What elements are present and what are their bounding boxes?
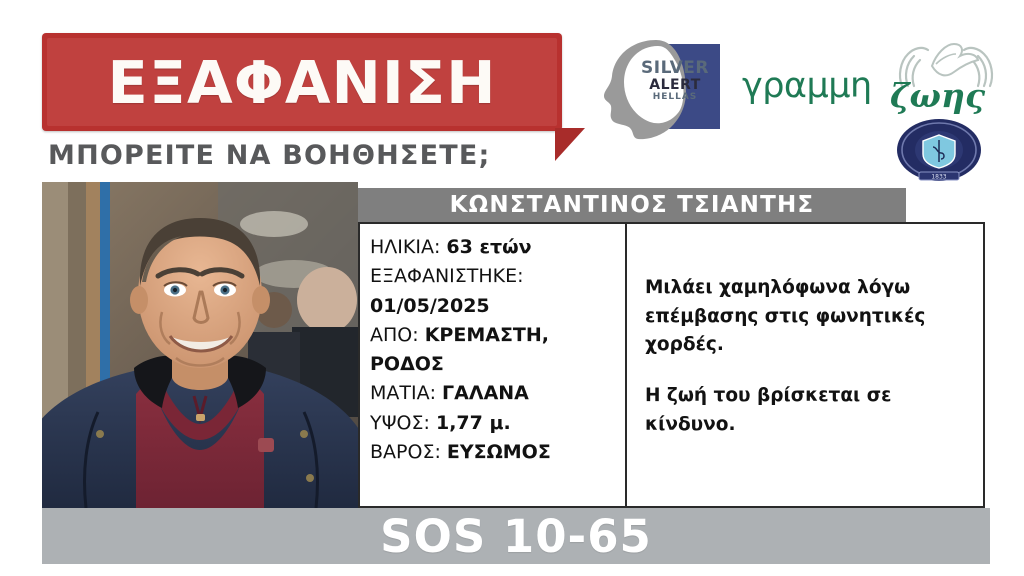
alert-banner-title: ΕΞΑΦΑΝΙΣΗ: [107, 53, 496, 112]
hellenic-police-badge-icon: 1833: [893, 116, 985, 188]
grammi-word: γραμμη: [742, 66, 872, 106]
alert-banner: ΕΞΑΦΑΝΙΣΗ: [42, 33, 562, 131]
person-details-column: ΗΛΙΚΙΑ: 63 ετών ΕΞΑΦΑΝΙΣΤΗΚΕ: 01/05/2025…: [360, 224, 627, 506]
photo-illustration: [42, 182, 358, 508]
silver-alert-line3: HELLAS: [628, 93, 722, 102]
detail-label: ΑΠΟ:: [370, 324, 419, 346]
detail-value: 01/05/2025: [370, 295, 490, 317]
silver-alert-line2: ALERT: [628, 78, 722, 93]
detail-row: 01/05/2025: [370, 292, 625, 321]
detail-label: ΗΛΙΚΙΑ:: [370, 236, 440, 258]
grammi-zois-logo: γραμμη ζωης: [742, 58, 932, 120]
detail-row: ΡΟΔΟΣ: [370, 350, 625, 379]
detail-row: ΗΛΙΚΙΑ: 63 ετών: [370, 233, 625, 262]
sos-hotline-bar: SOS 10-65: [42, 508, 990, 564]
poster-header: ΕΞΑΦΑΝΙΣΗ ΜΠΟΡΕΙΤΕ ΝΑ ΒΟΗΘΗΣΕΤΕ; SILVER …: [0, 0, 1024, 182]
detail-label: ΥΨΟΣ:: [370, 412, 430, 434]
detail-row: ΑΠΟ: ΚΡΕΜΑΣΤΗ,: [370, 321, 625, 350]
person-name: ΚΩΝΣΤΑΝΤΙΝΟΣ ΤΣΙΑΝΤΗΣ: [450, 192, 815, 218]
info-panel: ΗΛΙΚΙΑ: 63 ετών ΕΞΑΦΑΝΙΣΤΗΚΕ: 01/05/2025…: [358, 222, 985, 508]
silver-alert-wordmark: SILVER ALERT HELLAS: [628, 60, 722, 102]
ribbon-tail-icon: [555, 128, 585, 161]
detail-row: ΒΑΡΟΣ: ΕΥΣΩΜΟΣ: [370, 438, 625, 467]
zois-word: ζωης: [890, 76, 985, 115]
detail-value: 63 ετών: [446, 236, 531, 258]
sos-hotline-number: SOS 10-65: [380, 510, 652, 563]
detail-label: ΜΑΤΙΑ:: [370, 382, 436, 404]
detail-value: ΓΑΛΑΝΑ: [442, 382, 529, 404]
missing-person-poster: ΕΞΑΦΑΝΙΣΗ ΜΠΟΡΕΙΤΕ ΝΑ ΒΟΗΘΗΣΕΤΕ; SILVER …: [0, 0, 1024, 576]
detail-row: ΕΞΑΦΑΝΙΣΤΗΚΕ:: [370, 262, 625, 291]
silver-alert-line1: SILVER: [628, 60, 722, 78]
detail-row: ΜΑΤΙΑ: ΓΑΛΑΝΑ: [370, 379, 625, 408]
description-paragraph: Η ζωή του βρίσκεται σε κίνδυνο.: [645, 382, 967, 439]
detail-value: ΡΟΔΟΣ: [370, 353, 444, 375]
description-paragraph: Μιλάει χαμηλόφωνα λόγω επέμβασης στις φω…: [645, 274, 967, 360]
silver-alert-logo: SILVER ALERT HELLAS: [600, 36, 735, 141]
detail-row: ΥΨΟΣ: 1,77 μ.: [370, 409, 625, 438]
missing-person-photo: [42, 182, 358, 508]
person-name-bar: ΚΩΝΣΤΑΝΤΙΝΟΣ ΤΣΙΑΝΤΗΣ: [358, 188, 906, 222]
person-description-column: Μιλάει χαμηλόφωνα λόγω επέμβασης στις φω…: [627, 224, 983, 506]
alert-banner-inner: ΕΞΑΦΑΝΙΣΗ: [47, 38, 557, 126]
poster-subtitle: ΜΠΟΡΕΙΤΕ ΝΑ ΒΟΗΘΗΣΕΤΕ;: [48, 140, 490, 171]
detail-label: ΒΑΡΟΣ:: [370, 441, 441, 463]
detail-value: ΕΥΣΩΜΟΣ: [447, 441, 551, 463]
svg-text:1833: 1833: [931, 174, 946, 181]
detail-value: ΚΡΕΜΑΣΤΗ,: [425, 324, 549, 346]
detail-label: ΕΞΑΦΑΝΙΣΤΗΚΕ:: [370, 265, 524, 287]
detail-value: 1,77 μ.: [436, 412, 511, 434]
